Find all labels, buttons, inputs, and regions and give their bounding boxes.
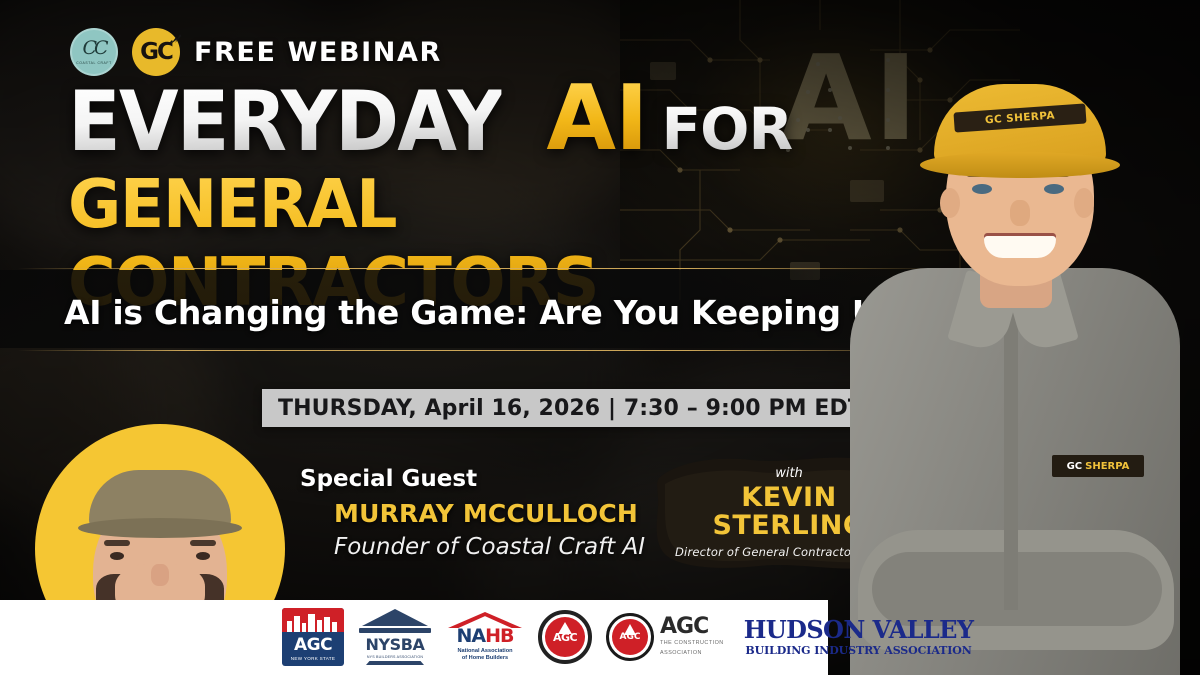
agc-seal-abbr: AGC — [553, 631, 577, 644]
skyline-icon — [282, 608, 344, 632]
nahb-sub1: National Association — [457, 648, 512, 655]
agc-ny-abbr: AGC — [294, 637, 332, 654]
coastal-craft-subtext: COASTAL CRAFT — [76, 61, 112, 65]
hudson-valley-line1: HUDSON VALLEY — [744, 618, 974, 642]
wifi-signal-icon — [165, 32, 183, 48]
hudson-valley-line2: BUILDING INDUSTRY ASSOCIATION — [745, 644, 971, 657]
nahb-abbr-hb: HB — [485, 625, 513, 647]
headline-word-everyday: EVERYDAY — [68, 84, 502, 160]
header-logo-row: CC COASTAL CRAFT GC FREE WEBINAR — [70, 28, 442, 76]
agc-seal-logo: AGC — [538, 610, 592, 664]
divider-top — [18, 268, 948, 269]
guest-label: Special Guest — [300, 466, 645, 492]
association-logos: AGC NEW YORK STATE NYSBA NYS BUILDERS AS… — [282, 608, 973, 666]
nahb-abbr-na: NA — [457, 625, 486, 647]
shirt-patch-gc: GC — [1067, 461, 1083, 472]
host-shirt-patch: GC SHERPA — [1052, 455, 1144, 477]
nysba-sub: NYS BUILDERS ASSOCIATION — [367, 655, 423, 659]
agc-sub2: ASSOCIATION — [660, 649, 724, 657]
agc-new-york-state-logo: AGC NEW YORK STATE — [282, 608, 344, 666]
agc-seal-letters: AGC — [606, 613, 654, 661]
host-cap-text: GC SHERPA — [985, 110, 1056, 127]
headline-word-for: FOR — [662, 103, 793, 156]
coastal-craft-monogram: CC — [82, 39, 105, 58]
gc-sherpa-logo: GC — [132, 28, 180, 76]
schedule-bar: THURSDAY, April 16, 2026 | 7:30 – 9:00 P… — [262, 389, 879, 427]
shirt-patch-sherpa: SHERPA — [1085, 461, 1129, 472]
guest-role: Founder of Coastal Craft AI — [334, 534, 645, 560]
hudson-valley-biz-logo: HUDSON VALLEY BUILDING INDUSTRY ASSOCIAT… — [744, 618, 974, 657]
webinar-promo-graphic: AI CC COASTAL CRAFT GC FREE WEBI — [0, 0, 1200, 675]
guest-name: MURRAY MCCULLOCH — [334, 499, 645, 528]
agc-wordmark: AGC — [660, 617, 724, 637]
headline-word-ai: AI — [546, 78, 647, 161]
schedule-text: THURSDAY, April 16, 2026 | 7:30 – 9:00 P… — [278, 396, 863, 421]
subtitle: AI is Changing the Game: Are You Keeping… — [64, 293, 921, 332]
roof-icon — [362, 609, 428, 626]
host-photo: GC SHERPA GC SHERPA — [828, 60, 1200, 675]
divider-bottom — [18, 350, 948, 351]
host-with-label: with — [775, 466, 803, 481]
free-webinar-badge: FREE WEBINAR — [194, 37, 442, 68]
nahb-sub2: of Home Builders — [457, 655, 512, 662]
guest-info: Special Guest MURRAY MCCULLOCH Founder o… — [300, 466, 645, 560]
nysba-logo: NYSBA NYS BUILDERS ASSOCIATION — [358, 609, 432, 665]
agc-ny-sub: NEW YORK STATE — [291, 656, 336, 661]
agc-sub1: THE CONSTRUCTION — [660, 639, 724, 647]
nahb-logo: NAHB National Association of Home Builde… — [446, 609, 524, 665]
nysba-abbr: NYSBA — [365, 635, 424, 654]
agc-construction-association-logo: AGC AGC THE CONSTRUCTION ASSOCIATION — [606, 613, 724, 661]
coastal-craft-logo: CC COASTAL CRAFT — [70, 28, 118, 76]
